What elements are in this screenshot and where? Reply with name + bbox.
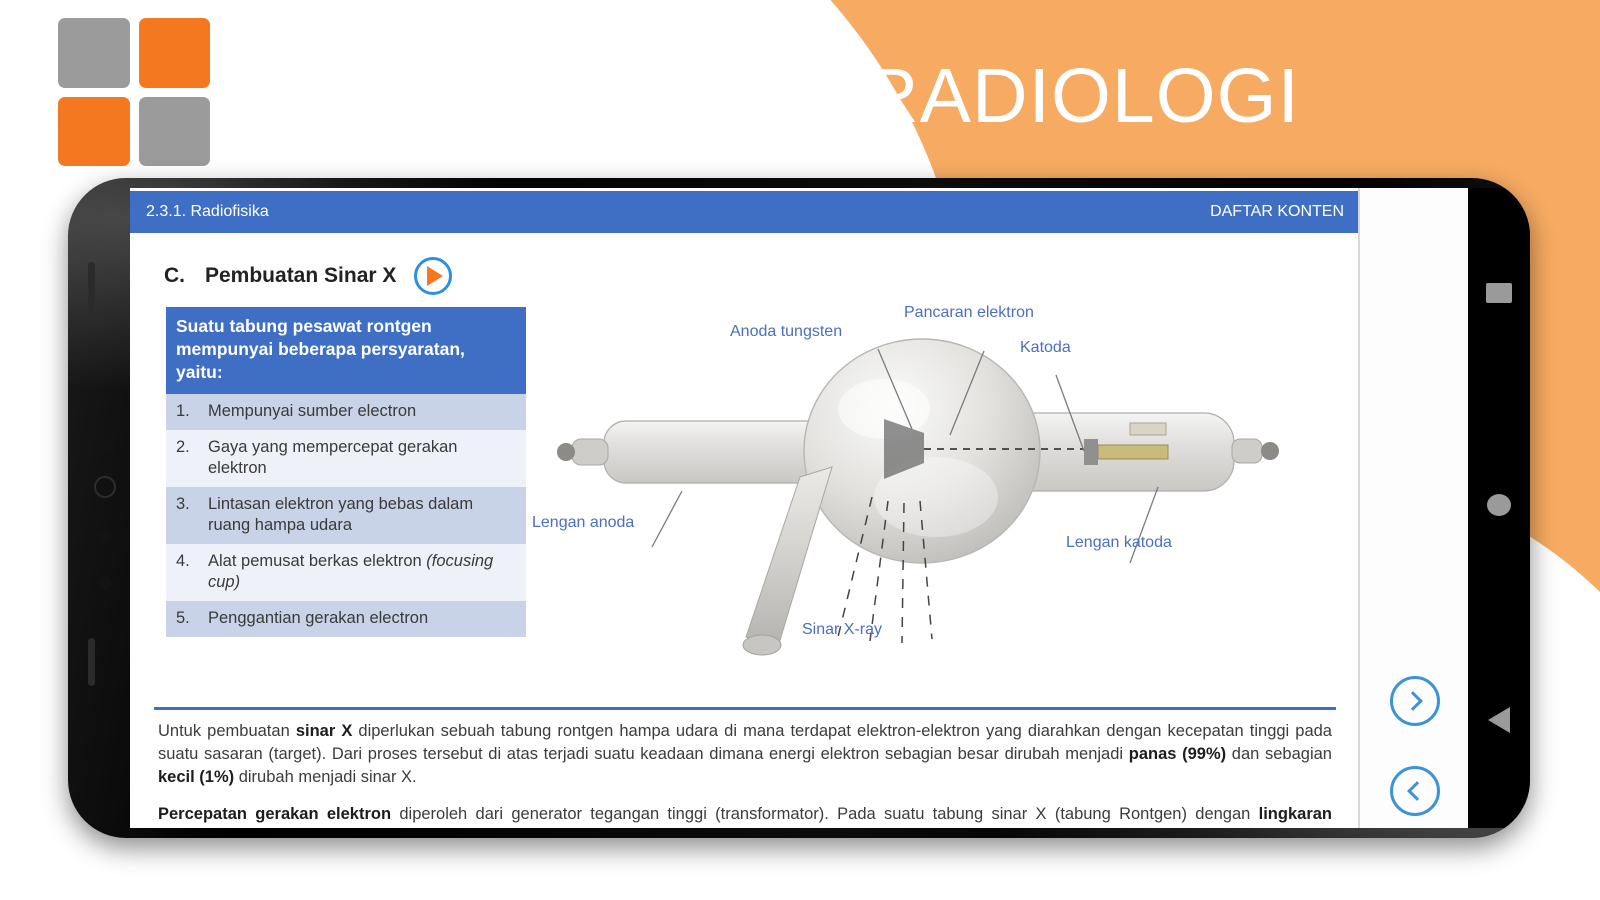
play-icon[interactable] [414, 257, 452, 295]
list-item-label: Gaya yang mempercepat gerakan elektron [208, 437, 518, 479]
list-item-number: 2. [176, 437, 208, 479]
xray-tube-diagram: Anoda tungsten Pancaran elektron Katoda … [532, 301, 1312, 701]
app-bar-title: 2.3.1. Radiofisika [146, 203, 269, 221]
section-header: C. Pembuatan Sinar X [164, 257, 1340, 295]
chevron-right-icon [1403, 691, 1423, 711]
next-page-button[interactable] [1390, 676, 1440, 726]
banner-title: ILMU DASAR RADIOLOGI [360, 48, 1320, 144]
label-sinar-xray: Sinar X-ray [802, 621, 882, 639]
phone-mockup: 2.3.1. Radiofisika DAFTAR KONTEN C. Pemb… [68, 178, 1530, 838]
list-item-label: Lintasan elektron yang bebas dalam ruang… [208, 494, 518, 536]
earpiece-icon [98, 576, 112, 590]
xray-tube-illustration [532, 301, 1312, 701]
logo-tile-gray-1 [58, 18, 130, 88]
label-katoda: Katoda [1020, 339, 1071, 357]
logo-tile-orange-2 [58, 97, 130, 167]
paragraph-1: Untuk pembuatan sinar X diperlukan sebua… [158, 720, 1332, 789]
list-item: 4. Alat pemusat berkas elektron (focusin… [166, 544, 526, 601]
body-row: Suatu tabung pesawat rontgen mempunyai b… [148, 301, 1340, 701]
list-item-number: 4. [176, 551, 208, 593]
android-navigation-bar [1468, 188, 1530, 828]
previous-page-button[interactable] [1390, 766, 1440, 816]
pager-rail [1358, 188, 1468, 828]
list-item-number: 1. [176, 401, 208, 422]
list-item: 5. Penggantian gerakan electron [166, 601, 526, 637]
list-item-label: Mempunyai sumber electron [208, 401, 416, 422]
chevron-left-icon [1407, 781, 1427, 801]
logo-tile-orange-1 [139, 18, 211, 88]
recents-square-icon[interactable] [1486, 283, 1512, 303]
volume-button[interactable] [88, 262, 95, 322]
list-item: 3. Lintasan elektron yang bebas dalam ru… [166, 487, 526, 544]
label-lengan-anoda: Lengan anoda [532, 514, 634, 532]
page-content: C. Pembuatan Sinar X Suatu tabung pesawa… [130, 233, 1358, 828]
phone-screen: 2.3.1. Radiofisika DAFTAR KONTEN C. Pemb… [130, 188, 1468, 828]
home-circle-icon[interactable] [1487, 494, 1511, 516]
app-logo [58, 18, 210, 166]
section-letter: C. [164, 264, 185, 288]
app-bar: 2.3.1. Radiofisika DAFTAR KONTEN [130, 191, 1358, 233]
back-triangle-icon[interactable] [1488, 707, 1510, 733]
logo-tile-gray-2 [139, 97, 211, 167]
paragraph-2: Percepatan gerakan elektron diperoleh da… [158, 803, 1332, 828]
section-title: Pembuatan Sinar X [205, 264, 396, 288]
play-triangle [427, 266, 443, 286]
requirements-heading: Suatu tabung pesawat rontgen mempunyai b… [166, 307, 526, 394]
label-lengan-katoda: Lengan katoda [1066, 534, 1172, 552]
label-anoda-tungsten: Anoda tungsten [730, 323, 842, 341]
divider [154, 707, 1336, 710]
list-item-number: 3. [176, 494, 208, 536]
daftar-konten-button[interactable]: DAFTAR KONTEN [1210, 203, 1344, 221]
list-item-number: 5. [176, 608, 208, 629]
label-pancaran-elektron: Pancaran elektron [904, 304, 1034, 322]
power-button[interactable] [88, 638, 95, 686]
proximity-sensor-icon [98, 440, 112, 454]
list-item: 1. Mempunyai sumber electron [166, 394, 526, 430]
list-item: 2. Gaya yang mempercepat gerakan elektro… [166, 430, 526, 487]
requirements-box: Suatu tabung pesawat rontgen mempunyai b… [166, 307, 526, 637]
light-sensor-icon [98, 530, 112, 544]
list-item-label: Alat pemusat berkas elektron (focusing c… [208, 551, 518, 593]
front-camera-icon [94, 476, 116, 498]
list-item-label: Penggantian gerakan electron [208, 608, 428, 629]
